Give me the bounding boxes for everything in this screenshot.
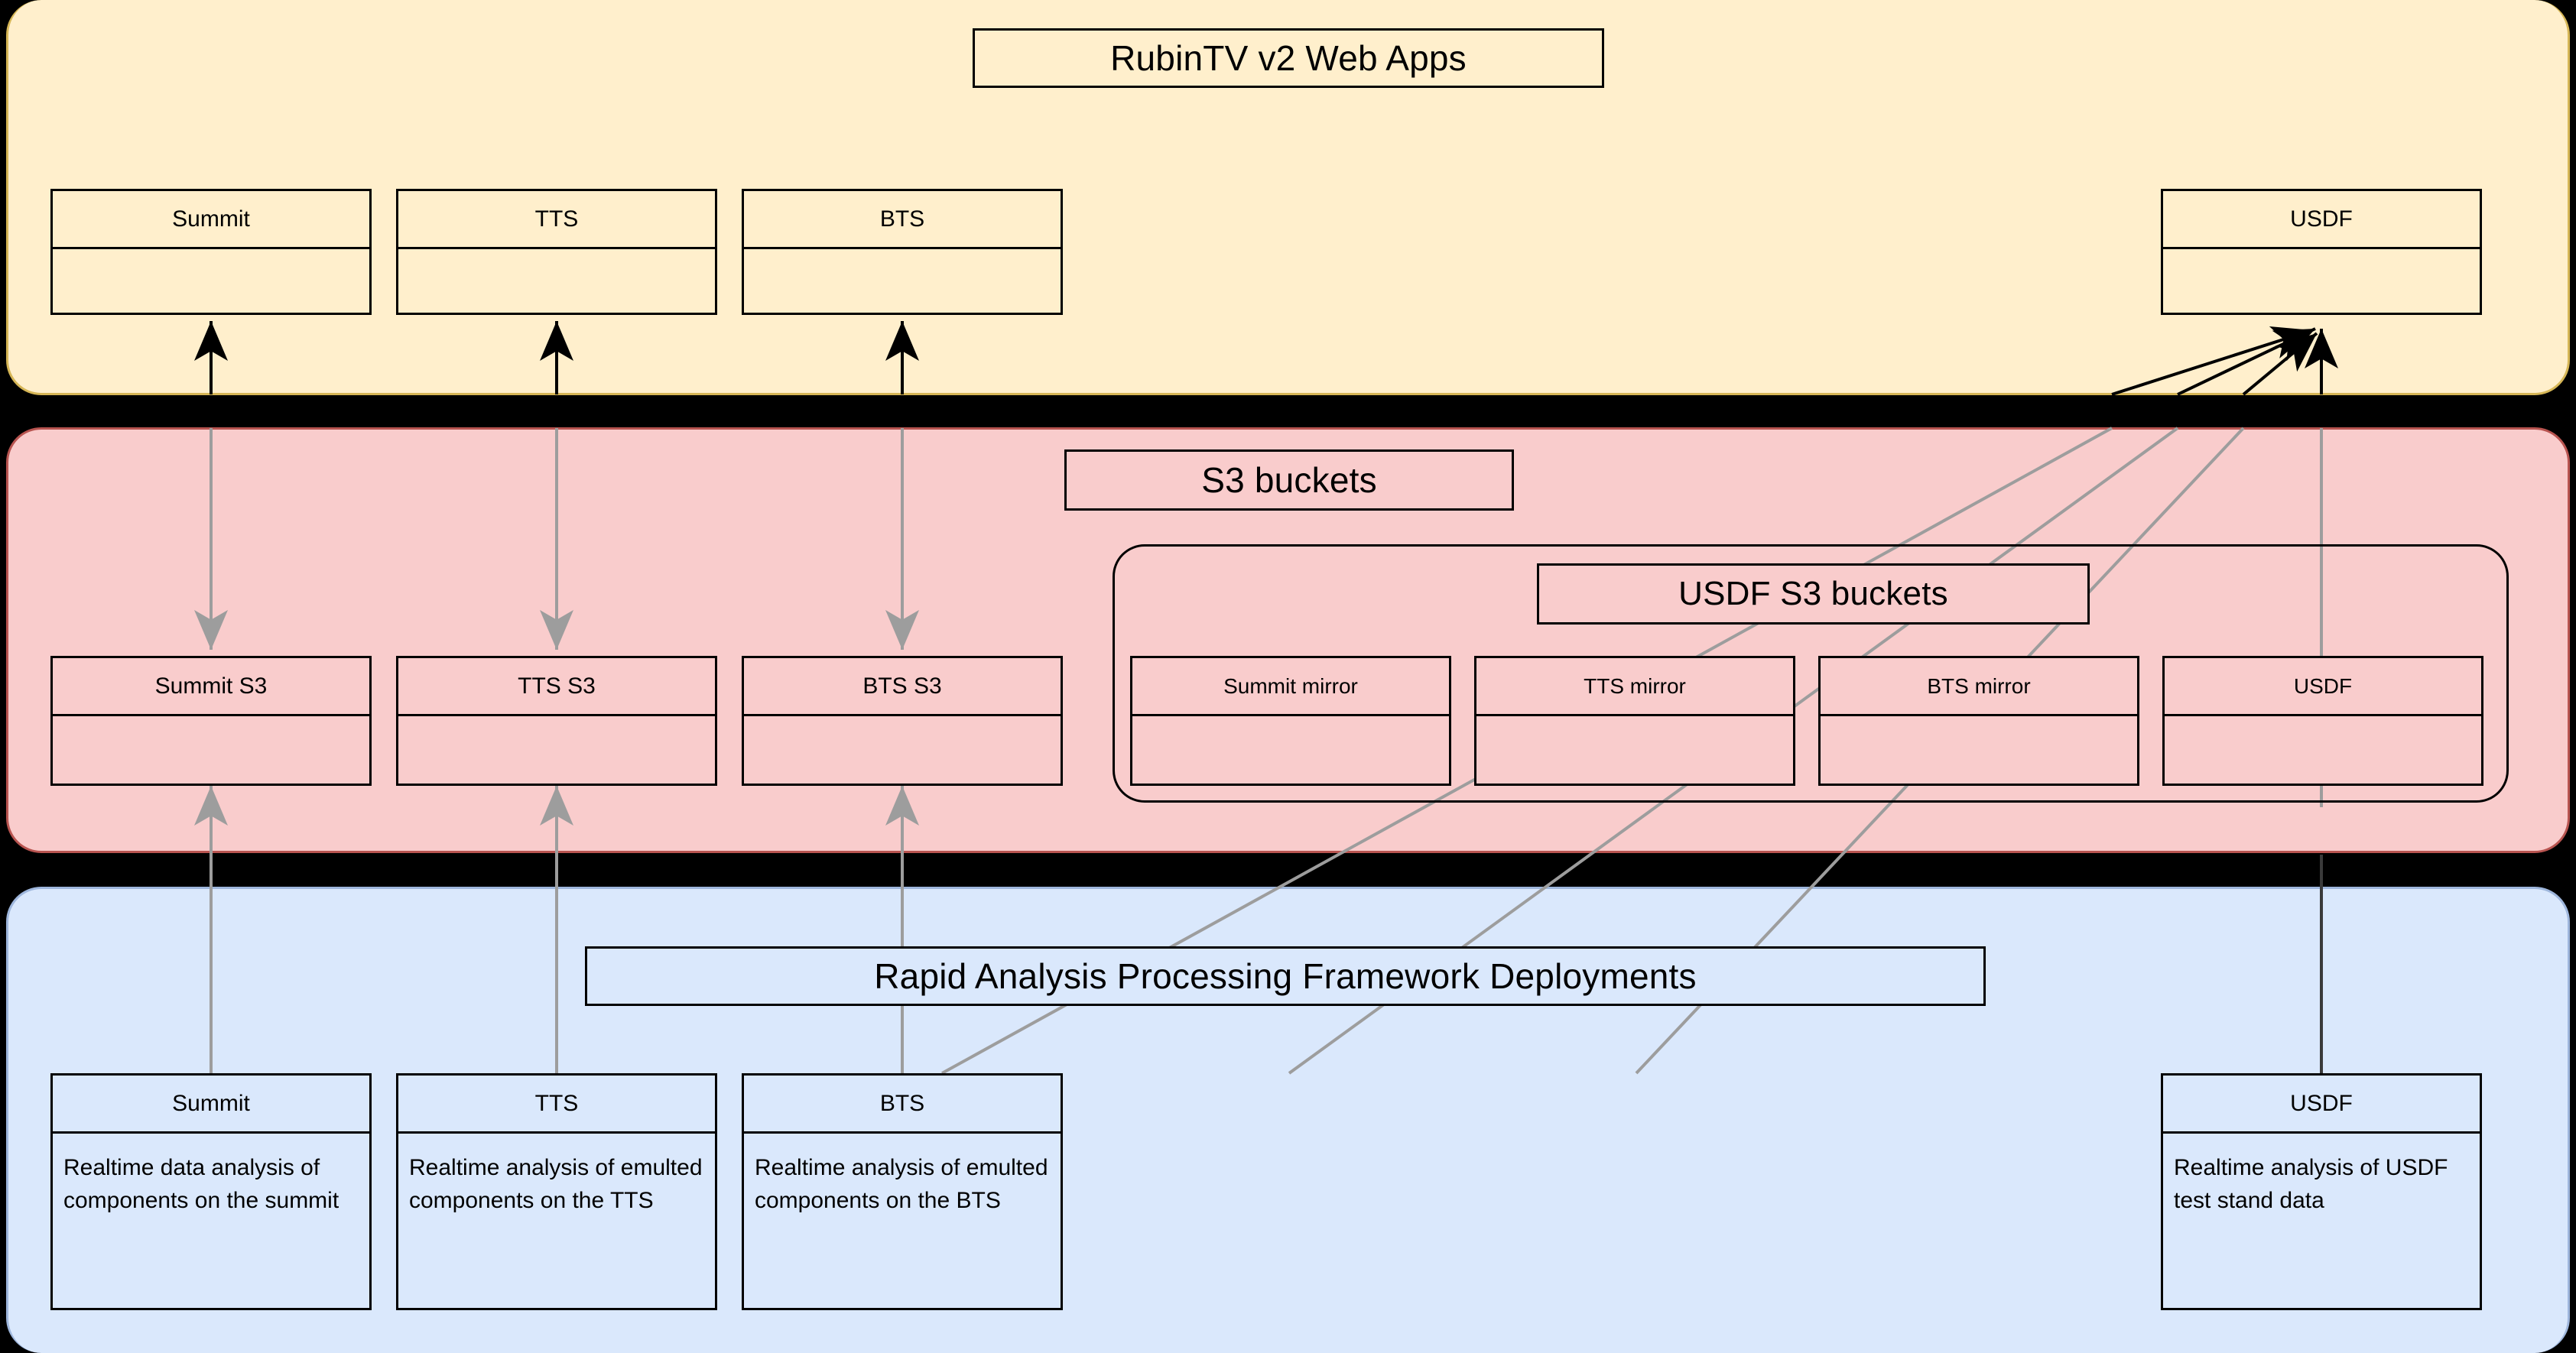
usdf-s3-node-usdf[interactable]: USDF: [2162, 656, 2483, 786]
webapp-node-usdf-header: USDF: [2163, 191, 2480, 247]
raf-node-usdf-header: USDF: [2163, 1076, 2480, 1131]
webapp-node-bts[interactable]: BTS: [742, 189, 1063, 315]
webapp-node-usdf[interactable]: USDF: [2161, 189, 2482, 315]
usdf-s3-node-summit-mirror-body: [1132, 714, 1449, 784]
usdf-s3-node-usdf-body: [2165, 714, 2481, 784]
usdf-s3-node-bts-mirror-header: BTS mirror: [1821, 658, 2137, 714]
webapp-node-tts-body: [398, 247, 715, 313]
diagram-canvas: RubinTV v2 Web Apps S3 buckets Rapid Ana…: [0, 0, 2576, 1353]
s3-node-bts-body: [744, 714, 1061, 784]
lane-title-rapid-analysis: Rapid Analysis Processing Framework Depl…: [585, 946, 1986, 1006]
raf-node-bts-header: BTS: [744, 1076, 1061, 1131]
usdf-s3-buckets-group-title: USDF S3 buckets: [1537, 563, 2090, 625]
webapp-node-bts-header: BTS: [744, 191, 1061, 247]
s3-node-tts[interactable]: TTS S3: [396, 656, 717, 786]
webapp-node-summit[interactable]: Summit: [50, 189, 372, 315]
usdf-s3-node-tts-mirror-body: [1476, 714, 1793, 784]
usdf-s3-node-usdf-header: USDF: [2165, 658, 2481, 714]
raf-node-tts-header: TTS: [398, 1076, 715, 1131]
webapp-node-tts[interactable]: TTS: [396, 189, 717, 315]
raf-node-bts-body: Realtime analysis of emulted components …: [744, 1131, 1061, 1308]
webapp-node-tts-header: TTS: [398, 191, 715, 247]
webapp-node-usdf-body: [2163, 247, 2480, 313]
raf-node-usdf[interactable]: USDF Realtime analysis of USDF test stan…: [2161, 1073, 2482, 1310]
raf-node-bts[interactable]: BTS Realtime analysis of emulted compone…: [742, 1073, 1063, 1310]
lane-title-webapps: RubinTV v2 Web Apps: [973, 28, 1604, 88]
s3-node-summit-header: Summit S3: [53, 658, 369, 714]
lane-title-s3-buckets: S3 buckets: [1064, 449, 1514, 511]
s3-node-bts[interactable]: BTS S3: [742, 656, 1063, 786]
s3-node-summit[interactable]: Summit S3: [50, 656, 372, 786]
raf-node-usdf-body: Realtime analysis of USDF test stand dat…: [2163, 1131, 2480, 1308]
usdf-s3-node-bts-mirror-body: [1821, 714, 2137, 784]
raf-node-summit[interactable]: Summit Realtime data analysis of compone…: [50, 1073, 372, 1310]
s3-node-tts-body: [398, 714, 715, 784]
usdf-s3-node-summit-mirror[interactable]: Summit mirror: [1130, 656, 1451, 786]
s3-node-tts-header: TTS S3: [398, 658, 715, 714]
raf-node-tts[interactable]: TTS Realtime analysis of emulted compone…: [396, 1073, 717, 1310]
usdf-s3-node-bts-mirror[interactable]: BTS mirror: [1818, 656, 2139, 786]
usdf-s3-node-tts-mirror-header: TTS mirror: [1476, 658, 1793, 714]
raf-node-tts-body: Realtime analysis of emulted components …: [398, 1131, 715, 1308]
webapp-node-bts-body: [744, 247, 1061, 313]
webapp-node-summit-body: [53, 247, 369, 313]
raf-node-summit-body: Realtime data analysis of components on …: [53, 1131, 369, 1308]
s3-node-bts-header: BTS S3: [744, 658, 1061, 714]
usdf-s3-node-summit-mirror-header: Summit mirror: [1132, 658, 1449, 714]
webapp-node-summit-header: Summit: [53, 191, 369, 247]
usdf-s3-node-tts-mirror[interactable]: TTS mirror: [1474, 656, 1795, 786]
s3-node-summit-body: [53, 714, 369, 784]
raf-node-summit-header: Summit: [53, 1076, 369, 1131]
